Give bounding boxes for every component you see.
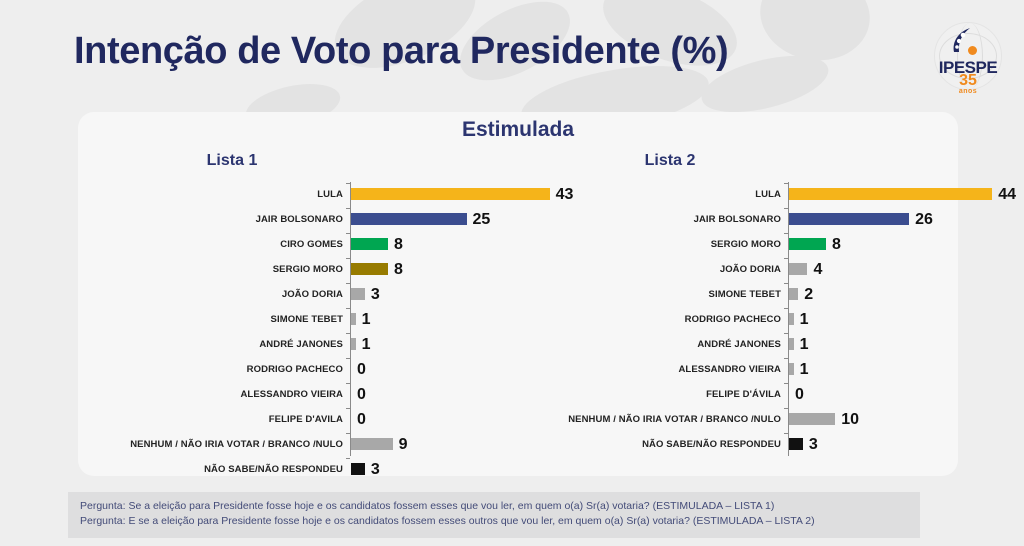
bar-value-label: 44 (998, 182, 1016, 207)
footnote-box: Pergunta: Se a eleição para Presidente f… (68, 492, 920, 538)
bar-category-label: LULA (520, 182, 788, 207)
bar (351, 338, 356, 350)
axis-tick (784, 383, 788, 384)
bar-category-label: RODRIGO PACHECO (82, 357, 350, 382)
bar-value-label: 25 (473, 207, 491, 232)
bar (789, 338, 794, 350)
axis-tick (346, 333, 350, 334)
bar-row: RODRIGO PACHECO1 (520, 307, 940, 332)
axis-tick (346, 383, 350, 384)
axis-tick (784, 283, 788, 284)
bar (351, 463, 365, 475)
bar-row: SIMONE TEBET2 (520, 282, 940, 307)
bar-row: JAIR BOLSONARO25 (82, 207, 502, 232)
footnote-line-2: Pergunta: E se a eleição para Presidente… (80, 514, 908, 529)
logo-years-label: anos (932, 88, 1004, 95)
bar-row: LULA43 (82, 182, 502, 207)
bar (789, 263, 807, 275)
bar-row: JOÃO DORIA4 (520, 257, 940, 282)
bar-category-label: FELIPE D'AVILA (82, 407, 350, 432)
bar-row: SIMONE TEBET1 (82, 307, 502, 332)
bar-category-label: RODRIGO PACHECO (520, 307, 788, 332)
bar-value-label: 10 (841, 407, 859, 432)
axis-tick (784, 433, 788, 434)
bar (789, 288, 798, 300)
bar-category-label: ANDRÉ JANONES (82, 332, 350, 357)
bar-category-label: ALESSANDRO VIEIRA (82, 382, 350, 407)
bar-value-label: 8 (394, 257, 403, 282)
chart-title-lista-1: Lista 1 (22, 152, 442, 170)
bar (789, 213, 909, 225)
bar-category-label: NÃO SABE/NÃO RESPONDEU (82, 457, 350, 482)
axis-tick (346, 408, 350, 409)
axis-tick (346, 208, 350, 209)
axis-tick (346, 258, 350, 259)
bar-value-label: 4 (813, 257, 822, 282)
bar (789, 363, 794, 375)
page-title: Intenção de Voto para Presidente (%) (74, 30, 728, 73)
axis-tick (784, 208, 788, 209)
bar-row: ALESSANDRO VIEIRA0 (82, 382, 502, 407)
bar-category-label: SIMONE TEBET (520, 282, 788, 307)
axis-tick (784, 358, 788, 359)
bar (351, 238, 388, 250)
axis-tick (346, 283, 350, 284)
ipespe-logo: IPESPE 35 anos (926, 20, 1008, 102)
bar-value-label: 9 (399, 432, 408, 457)
bar (789, 313, 794, 325)
bar-row: NENHUM / NÃO IRIA VOTAR / BRANCO /NULO10 (520, 407, 940, 432)
chart-title-lista-2: Lista 2 (460, 152, 880, 170)
bar-row: LULA44 (520, 182, 940, 207)
bar-value-label: 2 (804, 282, 813, 307)
axis-tick (784, 308, 788, 309)
axis-tick (784, 258, 788, 259)
bar-category-label: SERGIO MORO (82, 257, 350, 282)
bar-category-label: NENHUM / NÃO IRIA VOTAR / BRANCO /NULO (520, 407, 788, 432)
bar-value-label: 1 (800, 307, 809, 332)
bar-row: NÃO SABE/NÃO RESPONDEU3 (82, 457, 502, 482)
bar-value-label: 1 (800, 357, 809, 382)
axis-tick (784, 408, 788, 409)
bar-category-label: FELIPE D'ÁVILA (520, 382, 788, 407)
axis-tick (784, 333, 788, 334)
bar-value-label: 3 (371, 282, 380, 307)
chart-lista-1: Lista 1 LULA43JAIR BOLSONARO25CIRO GOMES… (82, 152, 502, 462)
bar-category-label: LULA (82, 182, 350, 207)
axis-tick (346, 233, 350, 234)
bar-row: JOÃO DORIA3 (82, 282, 502, 307)
bar (351, 213, 467, 225)
bar-value-label: 1 (362, 332, 371, 357)
bar-row: FELIPE D'ÁVILA0 (520, 382, 940, 407)
footnote-line-1: Pergunta: Se a eleição para Presidente f… (80, 499, 908, 514)
axis-tick (346, 358, 350, 359)
bar-category-label: NENHUM / NÃO IRIA VOTAR / BRANCO /NULO (82, 432, 350, 457)
bar (789, 188, 992, 200)
axis-tick (346, 458, 350, 459)
bar-category-label: NÃO SABE/NÃO RESPONDEU (520, 432, 788, 457)
panel-subtitle: Estimulada (78, 118, 958, 142)
bar (351, 313, 356, 325)
bar-category-label: ALESSANDRO VIEIRA (520, 357, 788, 382)
axis-tick (784, 233, 788, 234)
bar-value-label: 1 (800, 332, 809, 357)
bar-row: RODRIGO PACHECO0 (82, 357, 502, 382)
bar (789, 413, 835, 425)
bar (351, 438, 393, 450)
bar-value-label: 8 (832, 232, 841, 257)
chart-panel: Estimulada Lista 1 LULA43JAIR BOLSONARO2… (78, 112, 958, 476)
axis-tick (784, 183, 788, 184)
bar-row: NÃO SABE/NÃO RESPONDEU3 (520, 432, 940, 457)
orange-dot-icon (968, 46, 977, 55)
bar-category-label: JOÃO DORIA (82, 282, 350, 307)
page-header: Intenção de Voto para Presidente (%) IPE… (0, 0, 1024, 112)
axis-tick (346, 433, 350, 434)
plot-area-lista-2: LULA44JAIR BOLSONARO26SERGIO MORO8JOÃO D… (520, 182, 940, 462)
bar-row: SERGIO MORO8 (520, 232, 940, 257)
bar-category-label: JAIR BOLSONARO (520, 207, 788, 232)
bar-value-label: 0 (357, 382, 366, 407)
bar-category-label: JOÃO DORIA (520, 257, 788, 282)
bar (351, 263, 388, 275)
bar-category-label: SERGIO MORO (520, 232, 788, 257)
bar (789, 238, 826, 250)
bar-row: SERGIO MORO8 (82, 257, 502, 282)
bar-category-label: SIMONE TEBET (82, 307, 350, 332)
bar-row: CIRO GOMES8 (82, 232, 502, 257)
bar-value-label: 26 (915, 207, 933, 232)
bar-category-label: JAIR BOLSONARO (82, 207, 350, 232)
bar-row: ALESSANDRO VIEIRA1 (520, 357, 940, 382)
bar-row: FELIPE D'AVILA0 (82, 407, 502, 432)
bar-value-label: 3 (371, 457, 380, 482)
bar-value-label: 1 (362, 307, 371, 332)
plot-area-lista-1: LULA43JAIR BOLSONARO25CIRO GOMES8SERGIO … (82, 182, 502, 462)
axis-tick (346, 183, 350, 184)
axis-tick (346, 308, 350, 309)
bar-row: JAIR BOLSONARO26 (520, 207, 940, 232)
chart-lista-2: Lista 2 LULA44JAIR BOLSONARO26SERGIO MOR… (520, 152, 940, 462)
bar (789, 438, 803, 450)
bar-value-label: 8 (394, 232, 403, 257)
bar-category-label: CIRO GOMES (82, 232, 350, 257)
bar-value-label: 0 (795, 382, 804, 407)
bar (351, 288, 365, 300)
bar-row: ANDRÉ JANONES1 (520, 332, 940, 357)
bar-value-label: 0 (357, 357, 366, 382)
bar-row: ANDRÉ JANONES1 (82, 332, 502, 357)
bar-value-label: 3 (809, 432, 818, 457)
bar-row: NENHUM / NÃO IRIA VOTAR / BRANCO /NULO9 (82, 432, 502, 457)
bar-value-label: 0 (357, 407, 366, 432)
bar-category-label: ANDRÉ JANONES (520, 332, 788, 357)
